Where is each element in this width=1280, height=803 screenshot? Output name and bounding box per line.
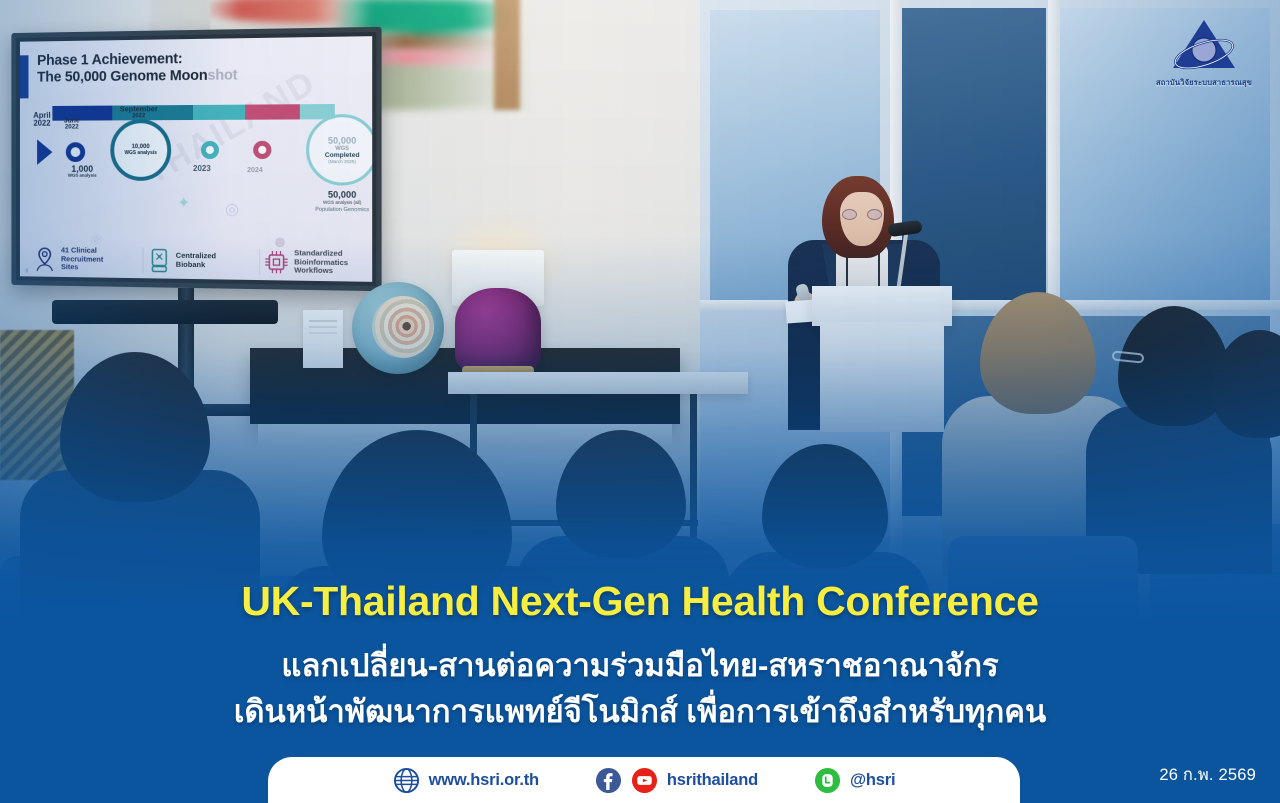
website-label: www.hsri.or.th	[429, 771, 539, 790]
social-handle-label: hsrithailand	[667, 771, 758, 790]
facebook-icon[interactable]	[595, 767, 622, 794]
subtitle-line-2: เดินหน้าพัฒนาการแพทย์จีโนมิกส์ เพื่อการเ…	[0, 686, 1280, 736]
conference-photo: Phase 1 Achievement: The 50,000 Genome M…	[0, 0, 1280, 620]
photo-blue-overlay	[0, 0, 1280, 620]
hsri-logo-caption: สถาบันวิจัยระบบสาธารณสุข	[1150, 77, 1258, 89]
website-contact[interactable]: www.hsri.or.th	[393, 767, 539, 794]
subtitle-line-1: แลกเปลี่ยน-สานต่อความร่วมมือไทย-สหราชอาณ…	[0, 640, 1280, 690]
conference-poster: Phase 1 Achievement: The 50,000 Genome M…	[0, 0, 1280, 803]
youtube-icon[interactable]	[631, 767, 658, 794]
line-id-label: @hsri	[850, 771, 895, 790]
hsri-logo: สถาบันวิจัยระบบสาธารณสุข	[1150, 14, 1258, 96]
line-contact[interactable]: @hsri	[814, 767, 895, 794]
line-icon[interactable]	[814, 767, 841, 794]
globe-icon	[393, 767, 420, 794]
social-contact[interactable]: hsrithailand	[595, 767, 758, 794]
page-title: UK-Thailand Next-Gen Health Conference	[0, 578, 1280, 625]
footer-contact-bar: www.hsri.or.th hsrithailand	[268, 757, 1020, 803]
event-date: 26 ก.พ. 2569	[1159, 762, 1256, 788]
hsri-logo-mark	[1165, 14, 1243, 76]
